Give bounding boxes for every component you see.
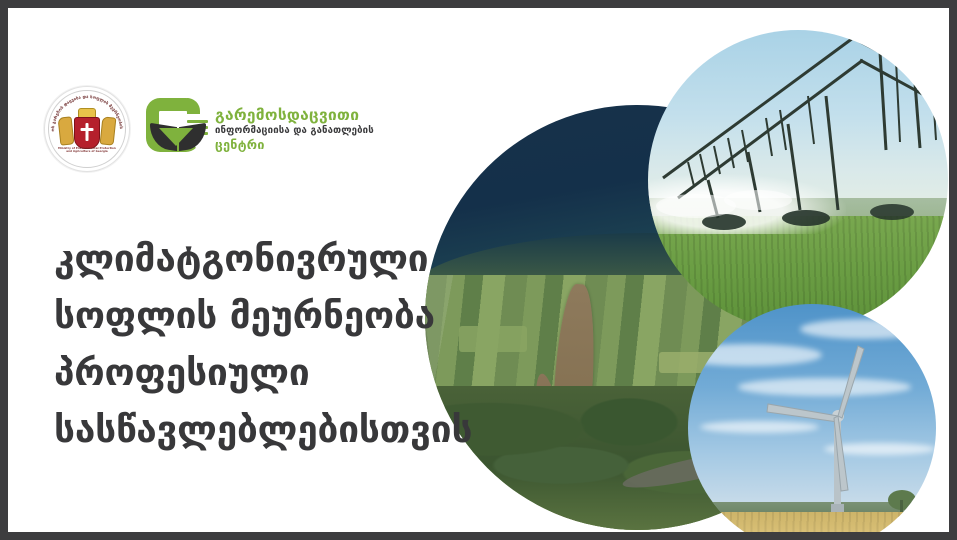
cloud <box>738 378 912 395</box>
irrigation-sky <box>648 30 948 216</box>
aerial-farmland-landscape-image <box>425 105 850 530</box>
slide-frame: საქართველოს გარემოს დაცვისა და სოფლის მე… <box>0 0 957 540</box>
aerial-woodland <box>425 386 850 531</box>
eiec-line-3: ცენტრი <box>215 137 374 152</box>
eiec-logo: გარემოსდაცვითი ინფორმაციისა და განათლები… <box>146 98 374 160</box>
title-line-3: პროფესიული <box>54 344 484 401</box>
dirt-road-lower <box>529 372 577 519</box>
eiec-c-cap <box>187 98 200 114</box>
cloud <box>800 319 929 339</box>
logo-row: საქართველოს გარემოს დაცვისა და სოფლის მე… <box>44 86 374 172</box>
sky <box>688 304 936 512</box>
irrigation-water-mist <box>648 174 846 234</box>
seal-subtitle: Ministry of Environmental Protection and… <box>45 147 129 154</box>
seal-lion-left <box>58 116 75 145</box>
dirt-road <box>544 282 599 530</box>
title-line-2: სოფლის მეურნეობა <box>54 287 484 344</box>
title-line-4: სასწავლებლებისთვის <box>54 401 484 458</box>
treeline <box>688 502 936 517</box>
irrigation-treeline <box>648 198 948 228</box>
eiec-wordmark: გარემოსდაცვითი ინფორმაციისა და განათლები… <box>215 106 374 152</box>
cloud <box>688 344 822 366</box>
wind-turbine-image <box>688 304 936 532</box>
wind-turbine-glyph <box>688 304 936 532</box>
eiec-line-1: გარემოსდაცვითი <box>215 106 374 124</box>
aerial-ridge <box>425 233 850 310</box>
seal-lion-right <box>100 116 117 145</box>
slide-canvas: საქართველოს გარემოს დაცვისა და სოფლის მე… <box>8 8 949 532</box>
eiec-book-icon <box>146 98 208 160</box>
title-line-1: კლიმატგონივრული <box>54 230 484 287</box>
eiec-line-2: ინფორმაციისა და განათლების <box>215 124 374 137</box>
center-pivot-irrigation-image <box>648 30 948 330</box>
seal-shield <box>74 117 100 149</box>
ministry-seal-logo: საქართველოს გარემოს დაცვისა და სოფლის მე… <box>44 86 130 172</box>
page-title: კლიმატგონივრული სოფლის მეურნეობა პროფესი… <box>54 230 484 458</box>
cloud <box>824 443 936 455</box>
wheat-field <box>688 512 936 532</box>
cloud <box>700 421 819 433</box>
field-patch <box>689 403 766 429</box>
aerial-hillside <box>425 105 850 275</box>
pivot-irrigation-rig <box>648 30 948 330</box>
field-patch <box>476 386 536 407</box>
irrigation-wheat-field <box>648 216 948 330</box>
field-patch <box>659 352 744 373</box>
aerial-country-lane <box>620 442 774 495</box>
aerial-fields <box>425 275 850 530</box>
